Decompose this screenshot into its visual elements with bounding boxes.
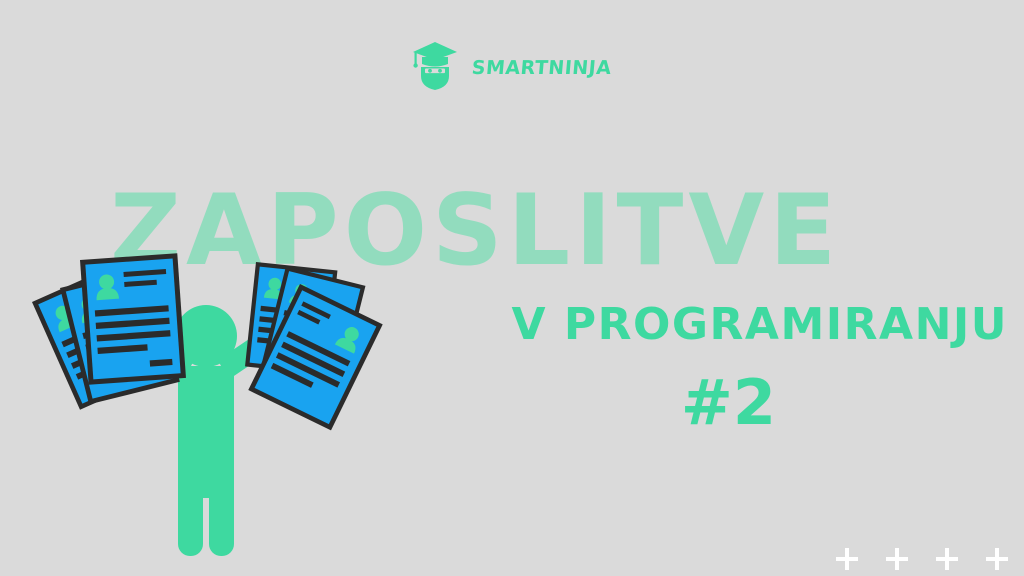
brand-lockup: SmartNinja xyxy=(0,40,1024,90)
resume-stack-left xyxy=(32,253,186,410)
page-subtitle: V PROGRAMIRANJU xyxy=(512,303,1008,347)
plus-icon xyxy=(936,548,958,570)
plus-icon xyxy=(886,548,908,570)
plus-decoration-row xyxy=(836,548,1008,570)
plus-icon xyxy=(836,548,858,570)
issue-number: #2 xyxy=(681,372,776,434)
poster-canvas: SmartNinja xyxy=(0,0,1024,576)
resume-stack-right xyxy=(245,262,383,430)
ninja-graduation-cap-icon xyxy=(412,40,458,90)
brand-wordmark: SmartNinja xyxy=(471,52,613,79)
plus-icon xyxy=(986,548,1008,570)
person-holding-resumes-illustration xyxy=(18,238,418,576)
